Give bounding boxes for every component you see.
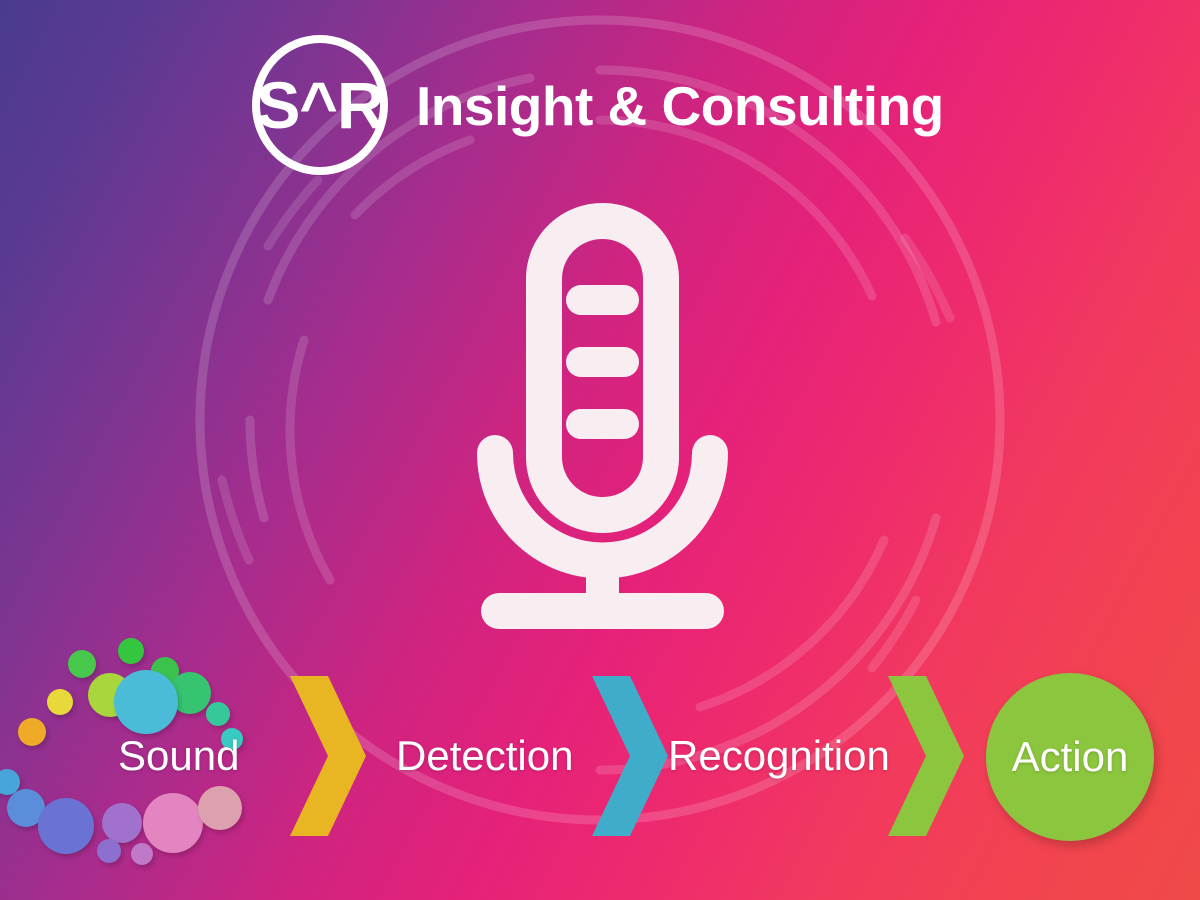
sound-dot	[143, 793, 203, 853]
sound-dot	[68, 650, 96, 678]
sound-dot	[18, 718, 46, 746]
logo-circle-icon: S^R	[250, 34, 390, 176]
sound-dot	[131, 843, 153, 865]
sound-dot	[38, 798, 94, 854]
flow-step-label-sound: Sound	[118, 735, 239, 777]
sound-dot	[47, 689, 73, 715]
chevron-blue-icon	[588, 676, 670, 838]
sound-dot	[97, 839, 121, 863]
chevron-yellow-icon	[286, 676, 368, 838]
flow-step-label-action: Action	[1012, 736, 1129, 778]
sound-dot	[114, 670, 178, 734]
sound-dot	[198, 786, 242, 830]
logo-monogram: S^R	[250, 34, 390, 176]
brand-name: Insight & Consulting	[416, 74, 944, 138]
sound-dot	[102, 803, 142, 843]
sound-dot	[118, 638, 144, 664]
microphone-icon	[455, 195, 750, 635]
chevron-green-icon	[884, 676, 966, 838]
flow-step-action-circle: Action	[986, 673, 1154, 841]
brand-header: S^R Insight & Consulting	[250, 34, 944, 176]
flow-step-label-recognition: Recognition	[668, 735, 890, 777]
sound-dot	[206, 702, 230, 726]
flow-step-label-detection: Detection	[396, 735, 573, 777]
promo-graphic-canvas: S^R Insight & Consulting	[0, 0, 1200, 900]
